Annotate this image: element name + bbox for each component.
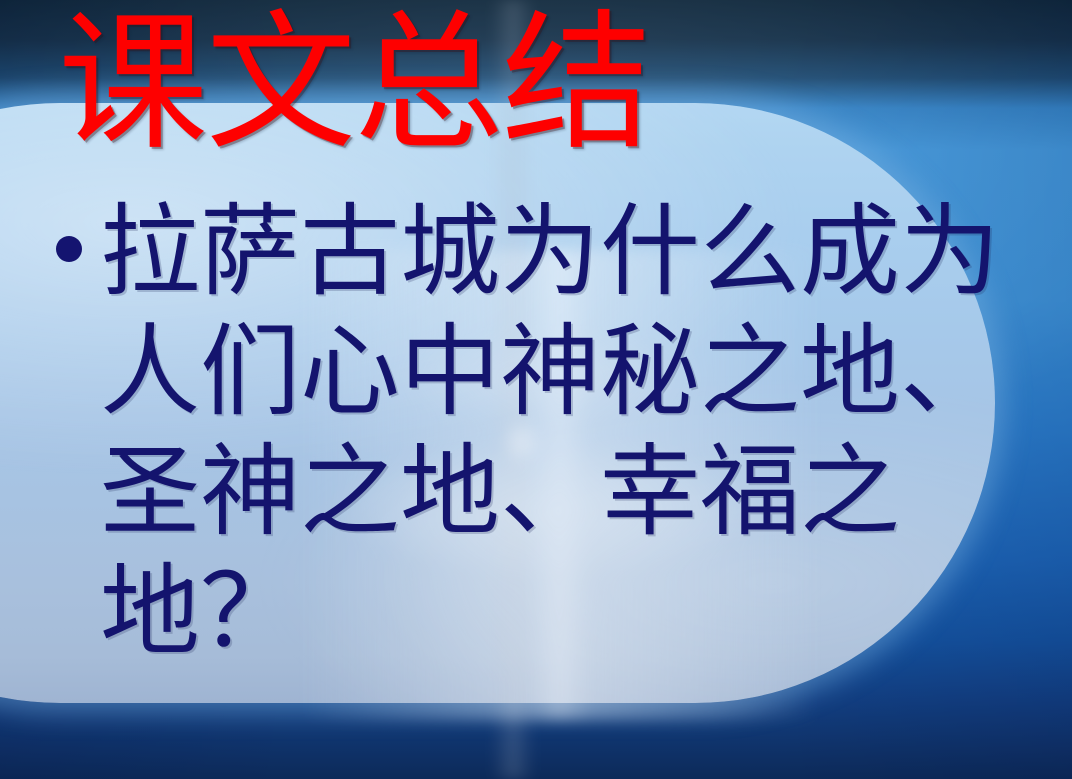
bullet-marker [56, 192, 100, 262]
slide-content: 课文总结 拉萨古城为什么成为 人们心中神秘之地、 圣神之地、幸福之 地？ [0, 0, 1072, 779]
bullet-text-line-4: 地？ [100, 552, 1016, 672]
bullet-text-line-2: 人们心中神秘之地、 [100, 312, 1016, 432]
bullet-item-text: 拉萨古城为什么成为 人们心中神秘之地、 圣神之地、幸福之 地？ [100, 192, 1016, 672]
presentation-slide: 课文总结 拉萨古城为什么成为 人们心中神秘之地、 圣神之地、幸福之 地？ [0, 0, 1072, 779]
bullet-text-line-1: 拉萨古城为什么成为 [100, 192, 1016, 312]
bullet-dot-icon [56, 236, 82, 262]
bullet-list: 拉萨古城为什么成为 人们心中神秘之地、 圣神之地、幸福之 地？ [56, 192, 1016, 672]
bullet-text-line-3: 圣神之地、幸福之 [100, 432, 1016, 552]
slide-title: 课文总结 [58, 6, 650, 164]
